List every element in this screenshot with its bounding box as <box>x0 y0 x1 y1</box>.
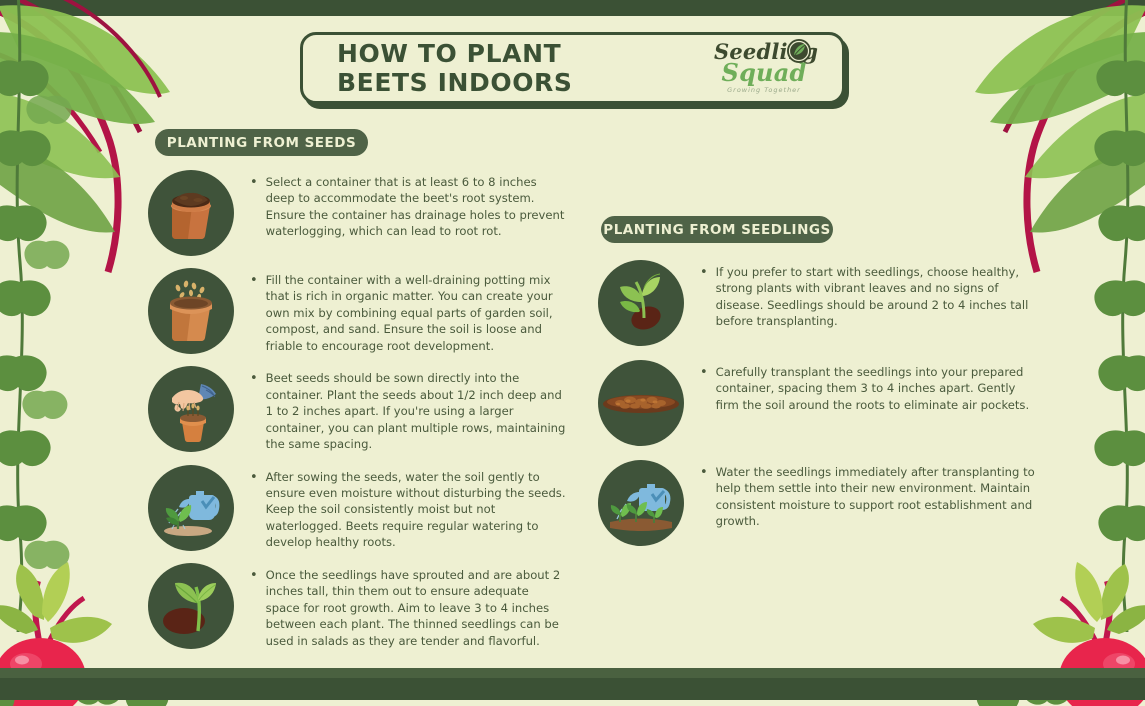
watering-seedlings-icon <box>598 460 684 546</box>
bullet-row: • Carefully transplant the seedlings int… <box>700 360 1042 413</box>
seedlings-steps-list: • If you prefer to start with seedlings,… <box>598 260 1046 560</box>
bullet-row: • Once the seedlings have sprouted and a… <box>250 563 566 649</box>
list-item: • Select a container that is at least 6 … <box>148 170 578 256</box>
bullet-row: • Beet seeds should be sown directly int… <box>250 366 566 452</box>
bullet-glyph: • <box>250 469 258 551</box>
bullet-glyph: • <box>700 464 708 530</box>
title-line-2: BEETS INDOORS <box>337 68 573 97</box>
step-text: If you prefer to start with seedlings, c… <box>716 264 1042 330</box>
bullet-row: • Water the seedlings immediately after … <box>700 460 1042 530</box>
header-card: HOW TO PLANT BEETS INDOORS Seedling Squa… <box>300 32 845 104</box>
bullet-glyph: • <box>250 370 258 452</box>
watering-can-seedling-icon <box>148 465 234 551</box>
seeds-steps-list: • Select a container that is at least 6 … <box>148 170 578 661</box>
list-item: • Once the seedlings have sprouted and a… <box>148 563 578 649</box>
bullet-glyph: • <box>250 272 258 354</box>
bullet-glyph: • <box>700 364 708 413</box>
seedling-sprout-icon <box>598 260 684 346</box>
bullet-row: • After sowing the seeds, water the soil… <box>250 465 566 551</box>
step-text: After sowing the seeds, water the soil g… <box>266 469 566 551</box>
bullet-row: • If you prefer to start with seedlings,… <box>700 260 1042 330</box>
bullet-row: • Fill the container with a well-drainin… <box>250 268 566 354</box>
bullet-glyph: • <box>700 264 708 330</box>
bullet-row: • Select a container that is at least 6 … <box>250 170 566 240</box>
brand-logo: Seedling Squad Growing Together <box>712 42 816 94</box>
logo-tagline: Growing Together <box>727 86 801 94</box>
top-bar <box>0 0 1145 16</box>
list-item: • Carefully transplant the seedlings int… <box>598 360 1046 446</box>
bullet-glyph: • <box>250 567 258 649</box>
hand-sowing-seeds-icon <box>148 366 234 452</box>
list-item: • Beet seeds should be sown directly int… <box>148 366 578 452</box>
step-text: Beet seeds should be sown directly into … <box>266 370 566 452</box>
soil-bed-icon <box>598 360 684 446</box>
title-line-1: HOW TO PLANT <box>337 39 573 68</box>
step-text: Select a container that is at least 6 to… <box>266 174 566 240</box>
list-item: • Water the seedlings immediately after … <box>598 460 1046 546</box>
leaf-circle-icon <box>786 38 812 64</box>
bottom-bar-inner <box>0 668 1145 678</box>
section-heading-seeds: PLANTING FROM SEEDS <box>155 129 368 156</box>
pot-with-soil-icon <box>148 170 234 256</box>
infographic-canvas: HOW TO PLANT BEETS INDOORS Seedling Squa… <box>0 0 1145 700</box>
step-text: Water the seedlings immediately after tr… <box>716 464 1042 530</box>
list-item: • If you prefer to start with seedlings,… <box>598 260 1046 346</box>
list-item: • Fill the container with a well-drainin… <box>148 268 578 354</box>
sprouting-seed-icon <box>148 563 234 649</box>
bottom-bar <box>0 678 1145 700</box>
bullet-glyph: • <box>250 174 258 240</box>
step-text: Fill the container with a well-draining … <box>266 272 566 354</box>
logo-word-squad: Squad <box>722 61 807 85</box>
step-text: Once the seedlings have sprouted and are… <box>266 567 566 649</box>
page-title: HOW TO PLANT BEETS INDOORS <box>337 39 573 97</box>
list-item: • After sowing the seeds, water the soil… <box>148 465 578 551</box>
pot-with-seeds-icon <box>148 268 234 354</box>
step-text: Carefully transplant the seedlings into … <box>716 364 1042 413</box>
section-heading-seedlings: PLANTING FROM SEEDLINGS <box>601 216 833 243</box>
